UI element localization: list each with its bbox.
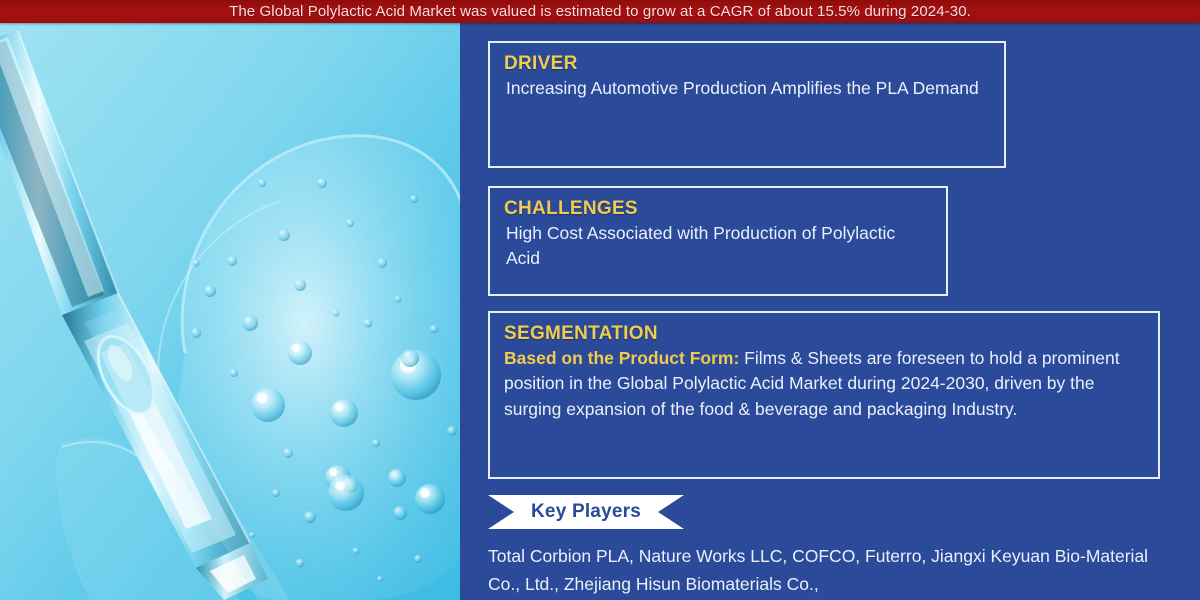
key-players-list: Total Corbion PLA, Nature Works LLC, COF…: [488, 543, 1178, 598]
segmentation-box: SEGMENTATION Based on the Product Form: …: [488, 311, 1160, 479]
challenges-body: High Cost Associated with Production of …: [504, 221, 932, 272]
content-column: DRIVER Increasing Automotive Production …: [462, 23, 1200, 600]
driver-body: Increasing Automotive Production Amplifi…: [504, 76, 990, 101]
product-photo: [0, 23, 460, 600]
top-headline-banner: The Global Polylactic Acid Market was va…: [0, 0, 1200, 23]
challenges-box: CHALLENGES High Cost Associated with Pro…: [488, 186, 948, 296]
segmentation-body: Based on the Product Form: Films & Sheet…: [504, 346, 1144, 422]
key-players-label: Key Players: [488, 495, 684, 529]
gel-dropper-photo-illustration: [0, 23, 460, 600]
segmentation-lead: Based on the Product Form:: [504, 348, 739, 368]
driver-box: DRIVER Increasing Automotive Production …: [488, 41, 1006, 168]
headline-text: The Global Polylactic Acid Market was va…: [229, 3, 971, 20]
key-players-ribbon: Key Players: [488, 495, 684, 529]
challenges-title: CHALLENGES: [504, 198, 932, 220]
segmentation-title: SEGMENTATION: [504, 323, 1144, 345]
key-players-section: Key Players Total Corbion PLA, Nature Wo…: [488, 495, 1188, 598]
driver-title: DRIVER: [504, 53, 990, 75]
infographic-page: The Global Polylactic Acid Market was va…: [0, 0, 1200, 600]
